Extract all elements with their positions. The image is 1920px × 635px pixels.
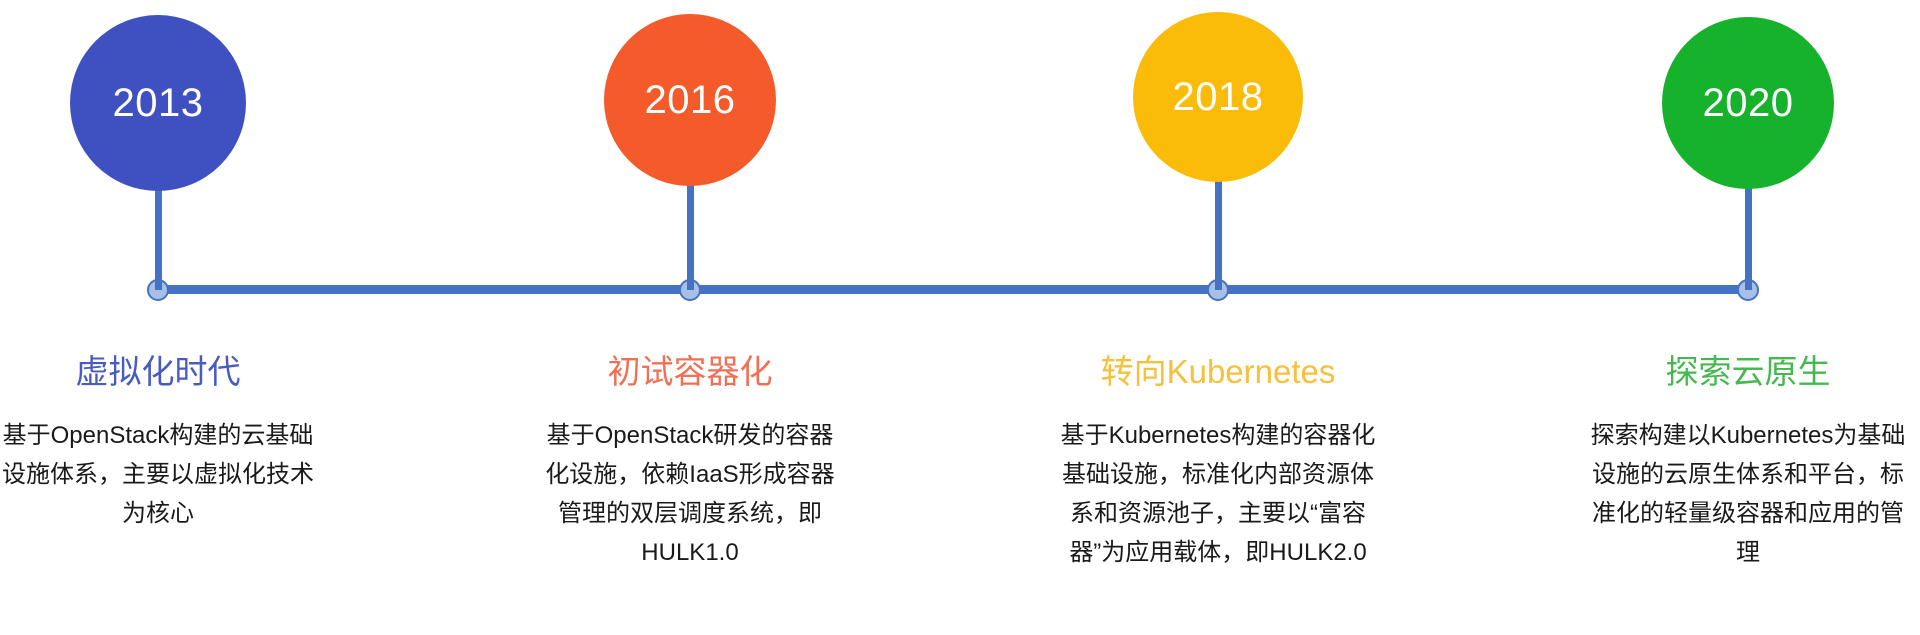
timeline-stem-2016 — [687, 184, 694, 290]
milestone-column-2018: 转向Kubernetes基于Kubernetes构建的容器化基础设施，标准化内部… — [1058, 352, 1378, 572]
year-bubble-2016[interactable]: 2016 — [604, 14, 776, 186]
milestone-description: 基于OpenStack构建的云基础设施体系，主要以虚拟化技术为核心 — [0, 416, 323, 533]
year-label: 2018 — [1173, 75, 1264, 120]
milestone-description: 探索构建以Kubernetes为基础设施的云原生体系和平台，标准化的轻量级容器和… — [1588, 416, 1908, 572]
year-label: 2013 — [113, 81, 204, 126]
milestone-column-2016: 初试容器化基于OpenStack研发的容器化设施，依赖IaaS形成容器管理的双层… — [535, 352, 845, 572]
milestone-description: 基于OpenStack研发的容器化设施，依赖IaaS形成容器管理的双层调度系统，… — [535, 416, 845, 572]
milestone-title: 探索云原生 — [1588, 352, 1908, 392]
year-bubble-2013[interactable]: 2013 — [70, 15, 246, 191]
milestone-title: 转向Kubernetes — [1058, 352, 1378, 392]
milestone-title: 初试容器化 — [535, 352, 845, 392]
year-bubble-2020[interactable]: 2020 — [1662, 17, 1834, 189]
timeline-infographic: 2013201620182020 虚拟化时代基于OpenStack构建的云基础设… — [0, 0, 1920, 635]
timeline-axis — [158, 285, 1748, 294]
year-label: 2016 — [645, 78, 736, 123]
milestone-column-2020: 探索云原生探索构建以Kubernetes为基础设施的云原生体系和平台，标准化的轻… — [1588, 352, 1908, 572]
milestone-title: 虚拟化时代 — [0, 352, 323, 392]
timeline-stem-2018 — [1215, 180, 1222, 290]
year-bubble-2018[interactable]: 2018 — [1133, 12, 1303, 182]
timeline-stem-2013 — [155, 189, 162, 290]
year-label: 2020 — [1703, 81, 1794, 126]
milestone-column-2013: 虚拟化时代基于OpenStack构建的云基础设施体系，主要以虚拟化技术为核心 — [0, 352, 323, 533]
timeline-stem-2020 — [1745, 187, 1752, 290]
milestone-description: 基于Kubernetes构建的容器化基础设施，标准化内部资源体系和资源池子，主要… — [1058, 416, 1378, 572]
